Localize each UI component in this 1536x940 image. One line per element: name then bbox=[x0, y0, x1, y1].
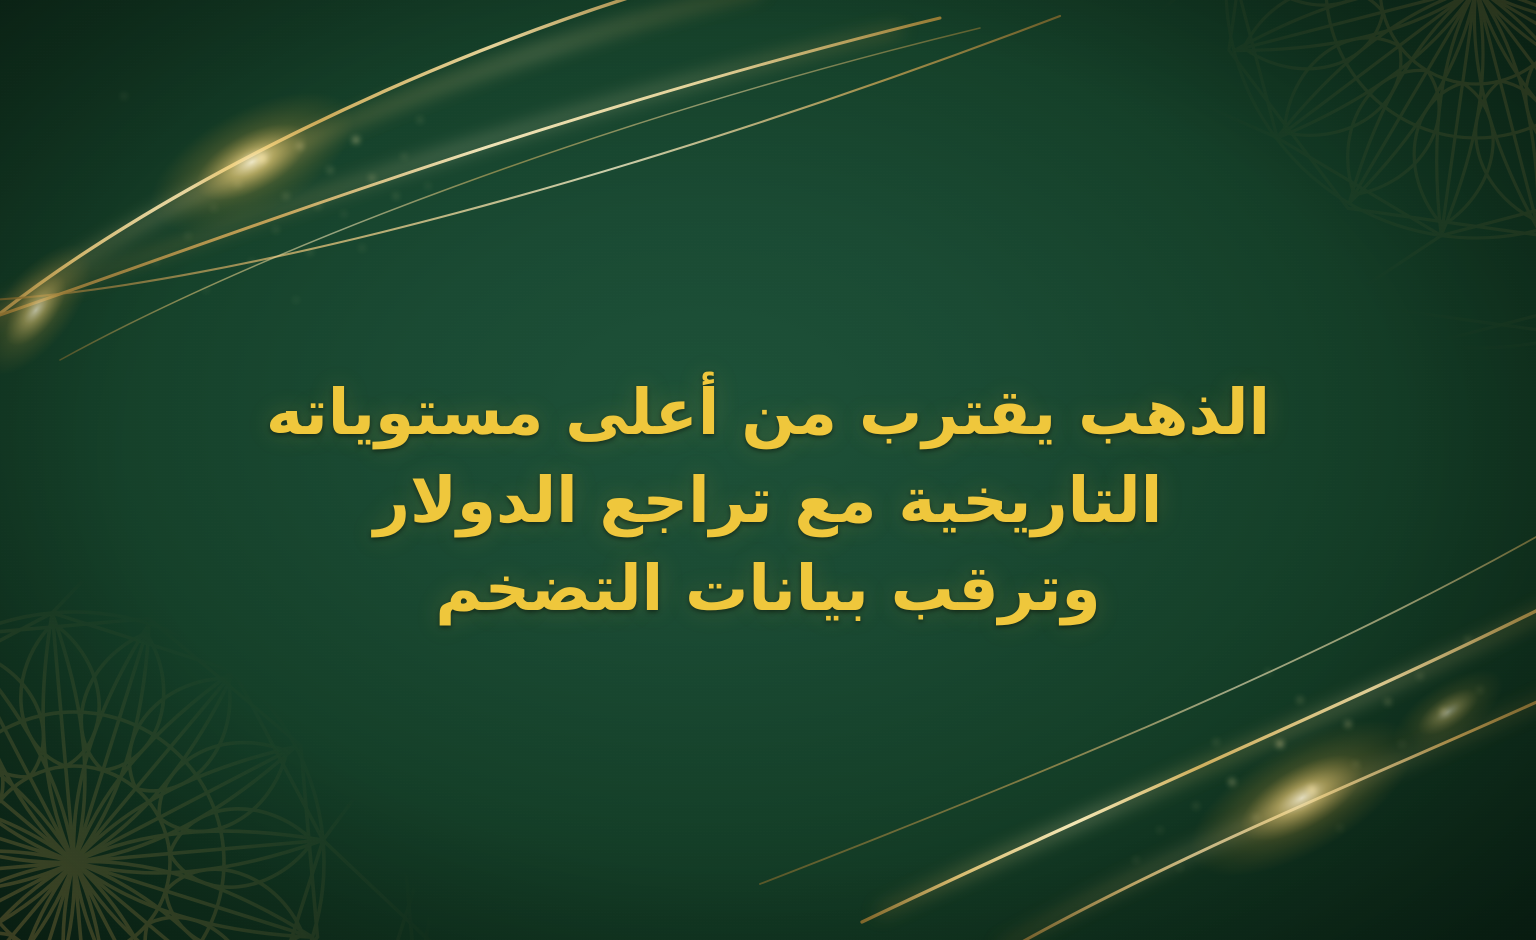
news-card-canvas: الذهب يقترب من أعلى مستوياته التاريخية م… bbox=[0, 0, 1536, 940]
headline-line-1: الذهب يقترب من أعلى مستوياته bbox=[266, 372, 1270, 454]
headline-line-3: وترقب بيانات التضخم bbox=[435, 548, 1100, 630]
headline-block: الذهب يقترب من أعلى مستوياته التاريخية م… bbox=[0, 372, 1536, 630]
headline-line-2: التاريخية مع تراجع الدولار bbox=[374, 460, 1163, 542]
